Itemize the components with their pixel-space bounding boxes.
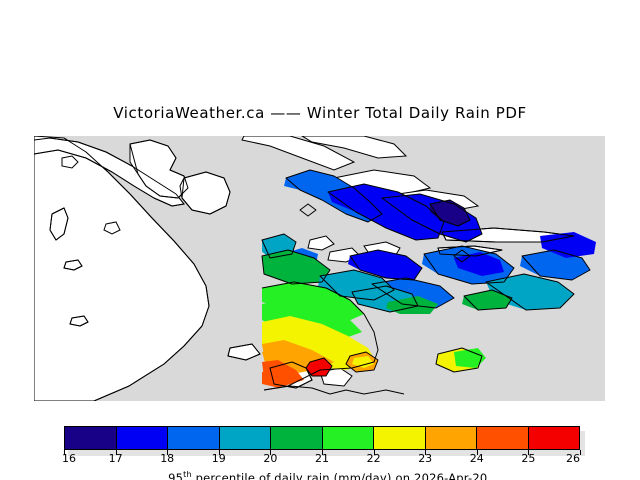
colorbar-segment-7[interactable] bbox=[426, 427, 478, 449]
map-plot-area[interactable] bbox=[34, 136, 605, 401]
colorbar-tick-26 bbox=[580, 450, 581, 455]
colorbar-segment-9[interactable] bbox=[529, 427, 580, 449]
map-canvas[interactable] bbox=[34, 136, 605, 401]
colorbar-segment-2[interactable] bbox=[168, 427, 220, 449]
page-title: VictoriaWeather.ca —— Winter Total Daily… bbox=[0, 104, 640, 122]
colorbar-caption: 95th percentile of daily rain (mm/day) o… bbox=[0, 456, 640, 480]
colorbar-segment-4[interactable] bbox=[271, 427, 323, 449]
colorbar-segment-8[interactable] bbox=[477, 427, 529, 449]
colorbar-gradient[interactable] bbox=[64, 426, 580, 450]
colorbar-segment-1[interactable] bbox=[117, 427, 169, 449]
colorbar-segment-5[interactable] bbox=[323, 427, 375, 449]
caption-rest: percentile of daily rain (mm/day) on 202… bbox=[192, 471, 488, 480]
colorbar[interactable]: 1617181920212223242526 bbox=[64, 426, 585, 456]
colorbar-segment-6[interactable] bbox=[374, 427, 426, 449]
weather-map-page: VictoriaWeather.ca —— Winter Total Daily… bbox=[0, 0, 640, 480]
colorbar-segment-0[interactable] bbox=[65, 427, 117, 449]
caption-ordinal-suffix: th bbox=[183, 470, 192, 479]
colorbar-segment-3[interactable] bbox=[220, 427, 272, 449]
caption-prefix: 95 bbox=[168, 471, 183, 480]
